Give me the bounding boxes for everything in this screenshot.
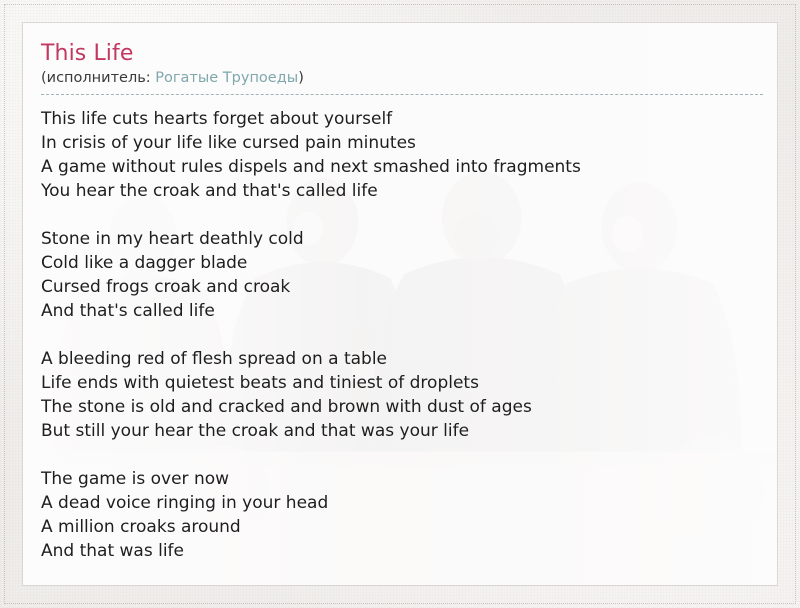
artist-line: (исполнитель: Рогатые Трупоеды) [41,69,763,95]
lyric-line: In crisis of your life like cursed pain … [41,131,757,155]
lyrics-card: This Life (исполнитель: Рогатые Трупоеды… [22,22,778,586]
lyric-line: And that was life [41,539,757,563]
lyric-line: Cursed frogs croak and croak [41,275,757,299]
lyric-line: And that's called life [41,299,757,323]
lyrics-stanza: Stone in my heart deathly cold Cold like… [41,227,757,323]
lyric-line: A dead voice ringing in your head [41,491,757,515]
lyric-line: The stone is old and cracked and brown w… [41,395,757,419]
lyric-line: Cold like a dagger blade [41,251,757,275]
lyrics-stanza: This life cuts hearts forget about yours… [41,107,757,203]
lyric-line: You hear the croak and that's called lif… [41,179,757,203]
artist-link[interactable]: Рогатые Трупоеды [155,70,298,86]
lyric-line: But still your hear the croak and that w… [41,419,757,443]
lyric-line: This life cuts hearts forget about yours… [41,107,757,131]
lyric-line: A million croaks around [41,515,757,539]
lyric-line: A bleeding red of flesh spread on a tabl… [41,347,757,371]
lyric-line: Stone in my heart deathly cold [41,227,757,251]
lyrics-stanza: The game is over now A dead voice ringin… [41,467,757,563]
lyrics-stanza: A bleeding red of flesh spread on a tabl… [41,347,757,443]
page-title: This Life [41,41,757,67]
lyric-line: Life ends with quietest beats and tinies… [41,371,757,395]
lyric-line: A game without rules dispels and next sm… [41,155,757,179]
artist-prefix-label: (исполнитель: [41,70,155,86]
artist-suffix-label: ) [298,70,304,86]
lyrics-body: This life cuts hearts forget about yours… [41,107,757,563]
lyric-line: The game is over now [41,467,757,491]
